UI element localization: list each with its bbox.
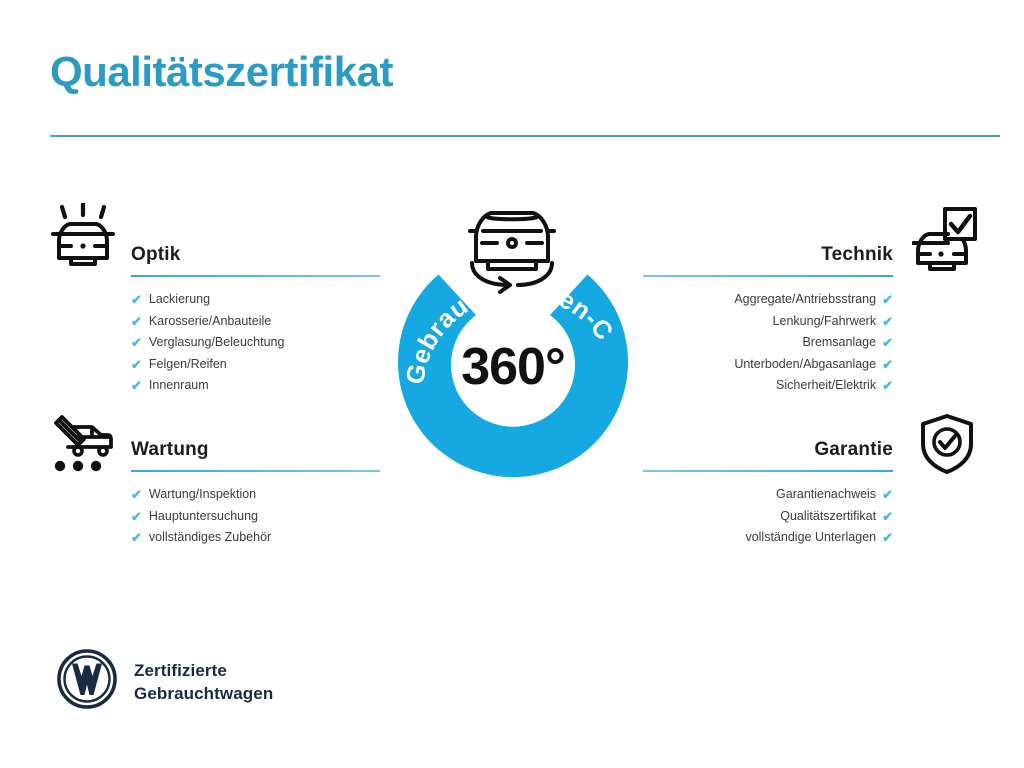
check-icon: ✔ [882, 375, 893, 397]
list-item: Qualitätszertifikat ✔ [643, 506, 893, 528]
footer-logo-text: Zertifizierte Gebrauchtwagen [134, 659, 273, 705]
list-item: ✔ Karosserie/Anbauteile [131, 311, 380, 333]
section-optik-divider [131, 275, 380, 277]
check-icon: ✔ [131, 311, 142, 333]
list-item-label: vollständige Unterlagen [745, 527, 876, 549]
section-technik-divider [643, 275, 893, 277]
section-wartung-divider [131, 470, 380, 472]
section-optik: Optik ✔ Lackierung ✔ Karosserie/Anbautei… [131, 243, 380, 397]
section-wartung-header: Wartung [131, 438, 380, 472]
section-technik-items: Aggregate/Antriebsstrang ✔ Lenkung/Fahrw… [643, 289, 893, 397]
section-garantie-divider [643, 470, 893, 472]
list-item-label: Karosserie/Anbauteile [149, 311, 271, 333]
volkswagen-logo [56, 648, 118, 715]
list-item: Lenkung/Fahrwerk ✔ [643, 311, 893, 333]
section-garantie-header: Garantie [643, 438, 893, 472]
list-item-label: Felgen/Reifen [149, 354, 227, 376]
badge-center-label: 360° [382, 337, 644, 397]
car-checkbox-icon [912, 207, 978, 276]
check-icon: ✔ [882, 289, 893, 311]
footer-logo-line1: Zertifizierte [134, 659, 273, 682]
list-item-label: Verglasung/Beleuchtung [149, 332, 285, 354]
list-item: Garantienachweis ✔ [643, 484, 893, 506]
section-wartung: Wartung ✔ Wartung/Inspektion ✔ Hauptunte… [131, 438, 380, 549]
list-item-label: Sicherheit/Elektrik [776, 375, 876, 397]
check-icon: ✔ [882, 311, 893, 333]
section-optik-header: Optik [131, 243, 380, 277]
list-item: Aggregate/Antriebsstrang ✔ [643, 289, 893, 311]
list-item-label: Bremsanlage [802, 332, 876, 354]
section-technik-title: Technik [643, 243, 893, 267]
list-item: ✔ Innenraum [131, 375, 380, 397]
check-icon: ✔ [131, 506, 142, 528]
list-item-label: Qualitätszertifikat [780, 506, 876, 528]
check-icon: ✔ [882, 484, 893, 506]
list-item: ✔ Wartung/Inspektion [131, 484, 380, 506]
check-icon: ✔ [131, 332, 142, 354]
list-item: ✔ Lackierung [131, 289, 380, 311]
list-item: Sicherheit/Elektrik ✔ [643, 375, 893, 397]
check-icon: ✔ [882, 527, 893, 549]
section-garantie-title: Garantie [643, 438, 893, 462]
list-item: Unterboden/Abgasanlage ✔ [643, 354, 893, 376]
check-icon: ✔ [882, 354, 893, 376]
list-item-label: vollständiges Zubehör [149, 527, 271, 549]
car-service-dipstick-icon [48, 413, 118, 480]
list-item-label: Wartung/Inspektion [149, 484, 256, 506]
list-item-label: Innenraum [149, 375, 209, 397]
shield-check-icon [918, 413, 976, 480]
check-icon: ✔ [882, 506, 893, 528]
check-icon: ✔ [131, 375, 142, 397]
check-icon: ✔ [131, 484, 142, 506]
check-icon: ✔ [131, 289, 142, 311]
list-item-label: Lackierung [149, 289, 210, 311]
list-item: Bremsanlage ✔ [643, 332, 893, 354]
list-item: ✔ Verglasung/Beleuchtung [131, 332, 380, 354]
list-item-label: Lenkung/Fahrwerk [773, 311, 877, 333]
section-wartung-title: Wartung [131, 438, 380, 462]
check-icon: ✔ [131, 527, 142, 549]
certificate-page: Qualitätszertifikat Optik [0, 0, 1024, 768]
header-divider [50, 135, 1000, 137]
list-item-label: Garantienachweis [776, 484, 876, 506]
section-garantie-items: Garantienachweis ✔ Qualitätszertifikat ✔… [643, 484, 893, 549]
page-title: Qualitätszertifikat [50, 48, 393, 96]
footer-logo: Zertifizierte Gebrauchtwagen [56, 648, 273, 715]
check-icon: ✔ [882, 332, 893, 354]
list-item: ✔ Felgen/Reifen [131, 354, 380, 376]
list-item-label: Aggregate/Antriebsstrang [734, 289, 876, 311]
footer-logo-line2: Gebrauchtwagen [134, 682, 273, 705]
section-technik-header: Technik [643, 243, 893, 277]
list-item-label: Hauptuntersuchung [149, 506, 258, 528]
section-wartung-items: ✔ Wartung/Inspektion ✔ Hauptuntersuchung… [131, 484, 380, 549]
list-item-label: Unterboden/Abgasanlage [734, 354, 876, 376]
list-item: ✔ vollständiges Zubehör [131, 527, 380, 549]
list-item: ✔ Hauptuntersuchung [131, 506, 380, 528]
section-garantie: Garantie Garantienachweis ✔ Qualitätszer… [643, 438, 893, 549]
section-optik-title: Optik [131, 243, 380, 267]
car-rotate-icon [452, 197, 572, 302]
check-icon: ✔ [131, 354, 142, 376]
car-front-lights-icon [48, 203, 118, 276]
list-item: vollständige Unterlagen ✔ [643, 527, 893, 549]
section-optik-items: ✔ Lackierung ✔ Karosserie/Anbauteile ✔ V… [131, 289, 380, 397]
section-technik: Technik Aggregate/Antriebsstrang ✔ Lenku… [643, 243, 893, 397]
